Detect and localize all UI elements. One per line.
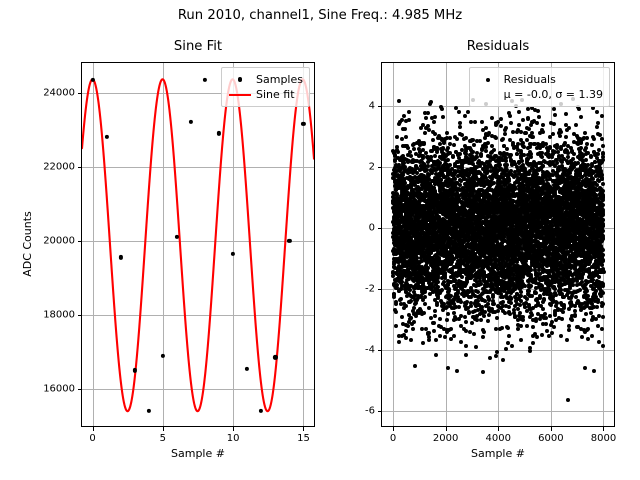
figure-canvas: Run 2010, channel1, Sine Freq.: 4.985 MH… — [0, 0, 640, 480]
residual-point — [463, 315, 467, 319]
y-tick-mark — [78, 167, 82, 168]
residual-point — [427, 306, 431, 310]
residual-point — [474, 345, 478, 349]
residual-point — [448, 136, 452, 140]
residual-point — [434, 338, 438, 342]
legend-row-sine-fit: Sine fit — [227, 87, 303, 102]
residual-point — [499, 124, 503, 128]
residual-point — [403, 127, 407, 131]
residual-point — [404, 336, 408, 340]
residual-point — [422, 142, 426, 146]
residual-point — [471, 138, 475, 142]
x-tick-mark — [93, 427, 94, 431]
residual-point — [491, 295, 495, 299]
residual-point — [479, 318, 483, 322]
residual-point — [509, 153, 513, 157]
x-tick-label: 15 — [297, 433, 310, 444]
residual-point — [494, 354, 498, 358]
residual-point — [409, 338, 413, 342]
sine-fit-ylabel: ADC Counts — [21, 184, 34, 304]
residual-point — [441, 115, 445, 119]
residual-point — [447, 289, 451, 293]
residual-point — [438, 317, 442, 321]
residual-point — [392, 292, 396, 296]
residual-point — [495, 350, 499, 354]
residual-point — [481, 370, 485, 374]
x-tick-label: 10 — [227, 433, 240, 444]
residual-point — [394, 324, 398, 328]
residual-point — [445, 131, 449, 135]
residual-point — [480, 120, 484, 124]
residual-point — [508, 114, 512, 118]
residual-point — [464, 344, 468, 348]
residual-point — [452, 334, 456, 338]
residual-point — [472, 332, 476, 336]
residual-point — [397, 99, 401, 103]
residual-point — [431, 138, 435, 142]
x-tick-label: 0 — [89, 433, 95, 444]
residual-point — [458, 121, 462, 125]
residual-point — [426, 124, 430, 128]
residual-point — [519, 338, 523, 342]
sine-fit-legend[interactable]: Samples Sine fit — [221, 67, 310, 107]
residual-point — [482, 314, 486, 318]
residual-point — [404, 304, 408, 308]
sine-fit-curve — [82, 63, 314, 426]
residual-point — [432, 329, 436, 333]
residual-point — [512, 308, 516, 312]
residual-point — [423, 302, 427, 306]
residual-point — [468, 330, 472, 334]
residual-point — [407, 110, 411, 114]
y-tick-mark — [78, 93, 82, 94]
y-tick-label: 18000 — [15, 309, 75, 320]
y-tick-mark — [78, 389, 82, 390]
legend-label-samples: Samples — [253, 73, 303, 86]
legend-row-samples: Samples — [227, 72, 303, 87]
residual-point — [422, 311, 426, 315]
figure-suptitle: Run 2010, channel1, Sine Freq.: 4.985 MH… — [0, 8, 640, 23]
y-tick-label: 22000 — [15, 161, 75, 172]
residual-point — [460, 275, 464, 279]
residual-point — [440, 107, 444, 111]
y-tick-label: 16000 — [15, 383, 75, 394]
gridline-horizontal — [382, 411, 614, 412]
residual-point — [394, 302, 398, 306]
residual-point — [472, 143, 476, 147]
residual-point — [455, 369, 459, 373]
residual-point — [484, 149, 488, 153]
residual-point — [446, 312, 450, 316]
residual-point — [479, 152, 483, 156]
residual-point — [433, 314, 437, 318]
residual-point — [423, 295, 427, 299]
x-tick-mark — [303, 427, 304, 431]
residual-point — [482, 330, 486, 334]
residual-point — [402, 114, 406, 118]
residual-point — [458, 152, 462, 156]
residual-point — [507, 334, 511, 338]
residual-point — [404, 135, 408, 139]
residual-point — [448, 142, 452, 146]
residual-point — [435, 303, 439, 307]
residual-point — [426, 111, 430, 115]
residual-point — [395, 135, 399, 139]
residual-point — [438, 334, 442, 338]
residual-point — [505, 163, 509, 167]
residual-point — [470, 321, 474, 325]
residual-point — [464, 320, 468, 324]
residual-point — [432, 321, 436, 325]
residual-point — [421, 341, 425, 345]
residual-point — [486, 319, 490, 323]
residual-point — [504, 347, 508, 351]
residual-point — [396, 150, 400, 154]
residual-point — [517, 123, 521, 127]
residual-point — [505, 147, 509, 151]
residual-point — [458, 125, 462, 129]
residual-point — [481, 335, 485, 339]
residual-point — [395, 283, 399, 287]
residual-point — [504, 126, 508, 130]
residual-point — [409, 316, 413, 320]
residual-point — [454, 106, 458, 110]
residual-point — [457, 110, 461, 114]
residual-point — [429, 100, 433, 104]
residual-point — [519, 294, 523, 298]
residual-point — [411, 327, 415, 331]
residual-point — [404, 329, 408, 333]
residual-point — [488, 356, 492, 360]
y-tick-mark — [78, 241, 82, 242]
residual-point — [452, 143, 456, 147]
residual-point — [455, 137, 459, 141]
residual-point — [510, 344, 514, 348]
sine-fit-axes[interactable]: Samples Sine fit — [81, 62, 315, 427]
legend-label-sine-fit: Sine fit — [253, 88, 295, 101]
residual-point — [494, 136, 498, 140]
residual-point — [424, 116, 428, 120]
residual-point — [465, 280, 469, 284]
sine-fit-panel: Sine Fit Samples Sine fit 051015 1600018… — [81, 62, 315, 427]
residual-point — [499, 117, 503, 121]
residuals-axes[interactable]: Residuals μ = -0.0, σ = 1.39 — [381, 62, 615, 427]
residual-point — [509, 121, 513, 125]
residual-point — [466, 110, 470, 114]
y-tick-label: 24000 — [15, 87, 75, 98]
residual-point — [473, 120, 477, 124]
residual-point — [501, 137, 505, 141]
residual-point — [464, 353, 468, 357]
residual-point — [506, 326, 510, 330]
residual-point — [459, 340, 463, 344]
x-tick-mark — [233, 427, 234, 431]
residual-point — [446, 146, 450, 150]
residual-point — [519, 290, 523, 294]
residual-point — [500, 326, 504, 330]
x-tick-mark — [163, 427, 164, 431]
residual-point — [507, 305, 511, 309]
residual-point — [423, 131, 427, 135]
residual-point — [433, 115, 437, 119]
residual-point — [457, 305, 461, 309]
residual-point — [492, 148, 496, 152]
residual-point — [399, 297, 403, 301]
samples-marker-icon — [227, 77, 253, 81]
residual-point — [495, 316, 499, 320]
residual-point — [443, 335, 447, 339]
residual-point — [407, 118, 411, 122]
residual-point — [490, 116, 494, 120]
residual-point — [445, 318, 449, 322]
y-tick-mark — [78, 315, 82, 316]
residual-point — [394, 310, 398, 314]
residual-point — [412, 320, 416, 324]
residual-point — [432, 120, 436, 124]
residual-point — [449, 327, 453, 331]
residual-point — [463, 114, 467, 118]
residual-point — [434, 353, 438, 357]
residual-point — [503, 132, 507, 136]
residual-point — [478, 139, 482, 143]
x-tick-label: 5 — [160, 433, 166, 444]
residuals-panel: Residuals Residuals μ = -0.0, σ = 1.39 0… — [381, 62, 615, 427]
residual-point — [501, 358, 505, 362]
sine-fit-xlabel: Sample # — [81, 447, 315, 460]
residual-point — [397, 340, 401, 344]
residual-point — [446, 158, 450, 162]
residual-point — [427, 335, 431, 339]
residual-point — [436, 280, 440, 284]
residuals-title: Residuals — [381, 39, 615, 54]
residual-point — [446, 366, 450, 370]
residual-point — [413, 364, 417, 368]
residual-point — [517, 110, 521, 114]
residual-point — [409, 154, 413, 158]
sine-fit-title: Sine Fit — [81, 39, 315, 54]
sine-fit-line-icon — [227, 94, 253, 96]
residual-point — [433, 309, 437, 313]
residual-point — [400, 315, 404, 319]
residual-point — [519, 324, 523, 328]
